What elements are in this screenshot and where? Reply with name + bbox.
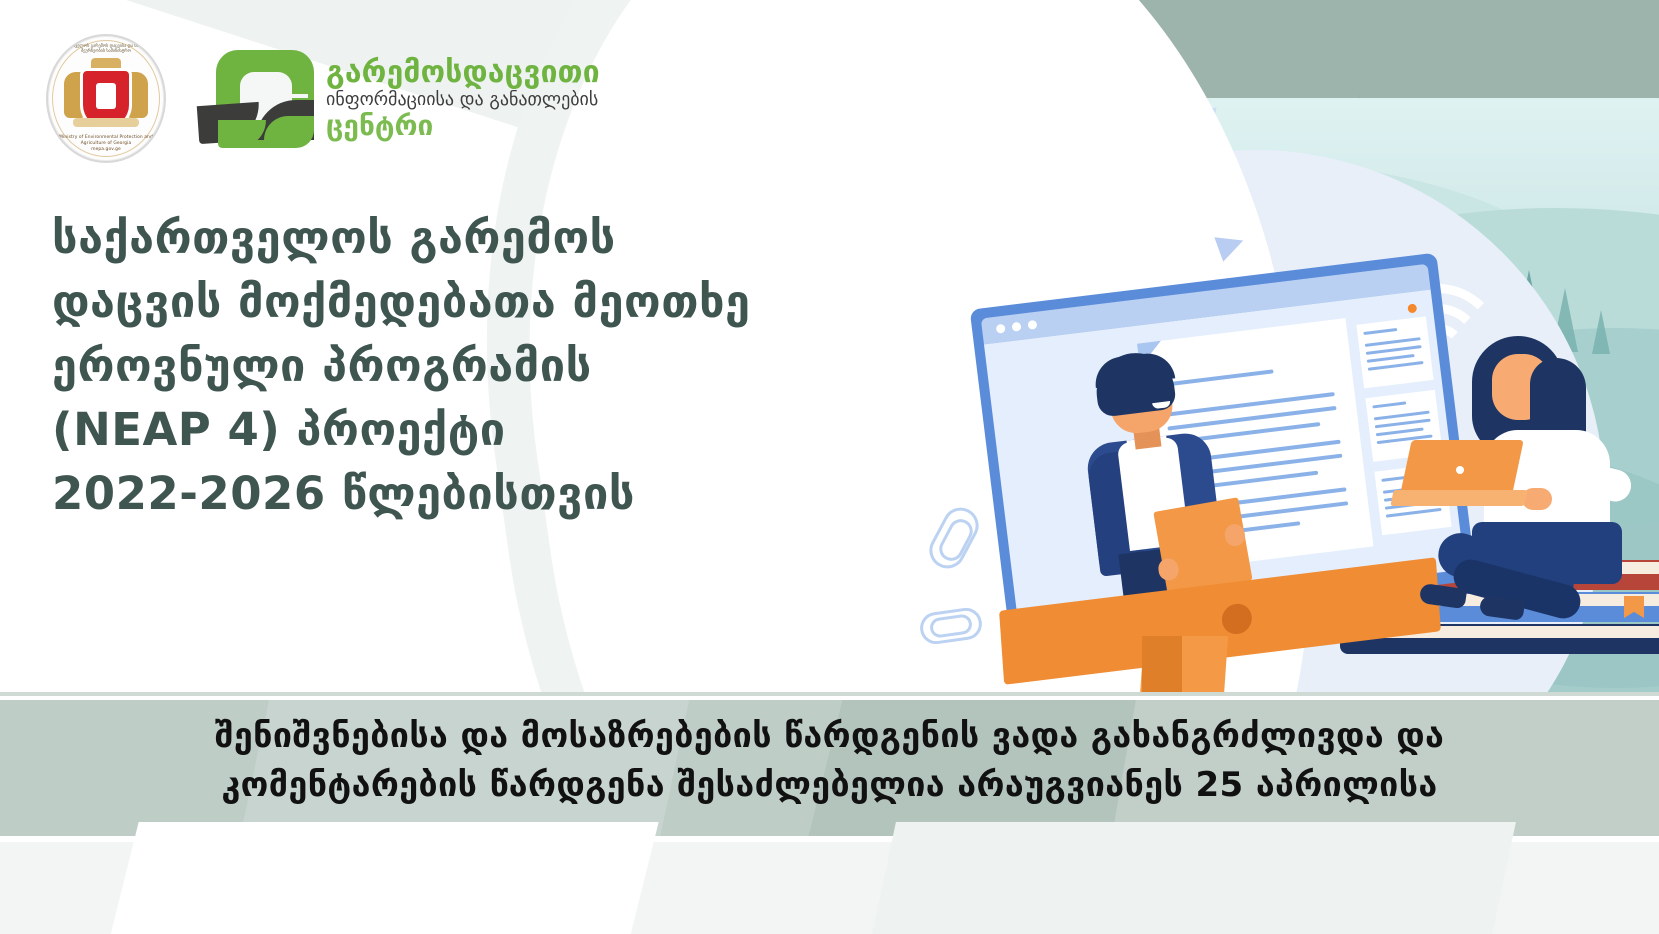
eiec-wordmark: გარემოსდაცვითი ინფორმაციისა და განათლები… xyxy=(326,57,600,141)
laptop-base xyxy=(1390,490,1527,506)
footer-shape xyxy=(864,822,1516,934)
eiec-line-1: გარემოსდაცვითი xyxy=(326,57,600,89)
man-holding-folder xyxy=(1041,341,1260,610)
title-line: დაცვის მოქმედებათა მეოთხე xyxy=(52,270,752,334)
text-line xyxy=(1376,427,1424,436)
document-thumbnail xyxy=(1356,316,1433,388)
text-line xyxy=(1367,354,1415,363)
eiec-line-2: ინფორმაციისა და განათლების xyxy=(326,91,600,110)
monitor-knob xyxy=(1221,602,1253,636)
announcement-text: შენიშვნებისა და მოსაზრებების წარდგენის ვ… xyxy=(0,712,1659,811)
logo-row: საქართველოს გარემოს დაცვისა და სოფლის მე… xyxy=(46,34,600,163)
banner-line: შენიშვნებისა და მოსაზრებების წარდგენის ვ… xyxy=(0,712,1659,761)
seal-inner-text-en: Ministry of Environmental Protection and… xyxy=(59,135,153,146)
text-line xyxy=(1363,328,1397,335)
seal-ribbon xyxy=(73,118,139,127)
title-line: საქართველოს გარემოს xyxy=(52,206,752,270)
crown-icon xyxy=(91,58,121,71)
title-line: (NEAP 4) პროექტი xyxy=(52,398,752,462)
eiec-logo: გარემოსდაცვითი ინფორმაციისა და განათლები… xyxy=(216,50,600,148)
footer-strip xyxy=(0,842,1659,934)
text-line xyxy=(1368,361,1424,371)
seal-url: mepa.gov.ge xyxy=(91,147,121,152)
banner-line: კომენტარების წარდგენა შესაძლებელია არაუგ… xyxy=(0,761,1659,810)
eiec-logo-mark xyxy=(216,50,314,148)
page-title: საქართველოს გარემოს დაცვის მოქმედებათა მ… xyxy=(52,206,752,525)
monitor-stand-shadow xyxy=(1142,636,1182,696)
laptop-logo xyxy=(1456,466,1464,474)
text-line xyxy=(1372,401,1406,408)
seal-inner-text: Ministry of Environmental Protection and… xyxy=(48,135,164,153)
eiec-line-3: ცენტრი xyxy=(326,111,600,140)
footer-shape xyxy=(101,822,658,934)
eiec-bar xyxy=(280,94,308,98)
notification-dot xyxy=(1407,303,1417,313)
title-line: ეროვნული პროგრამის xyxy=(52,334,752,398)
ministry-seal: საქართველოს გარემოს დაცვისა და სოფლის მე… xyxy=(46,34,166,163)
laptop xyxy=(1392,440,1522,510)
poster-canvas: საქართველოს გარემოს დაცვისა და სოფლის მე… xyxy=(0,0,1659,934)
title-line: 2022-2026 წლებისთვის xyxy=(52,462,752,526)
seal-outer-text: საქართველოს გარემოს დაცვისა და სოფლის მე… xyxy=(48,43,164,53)
